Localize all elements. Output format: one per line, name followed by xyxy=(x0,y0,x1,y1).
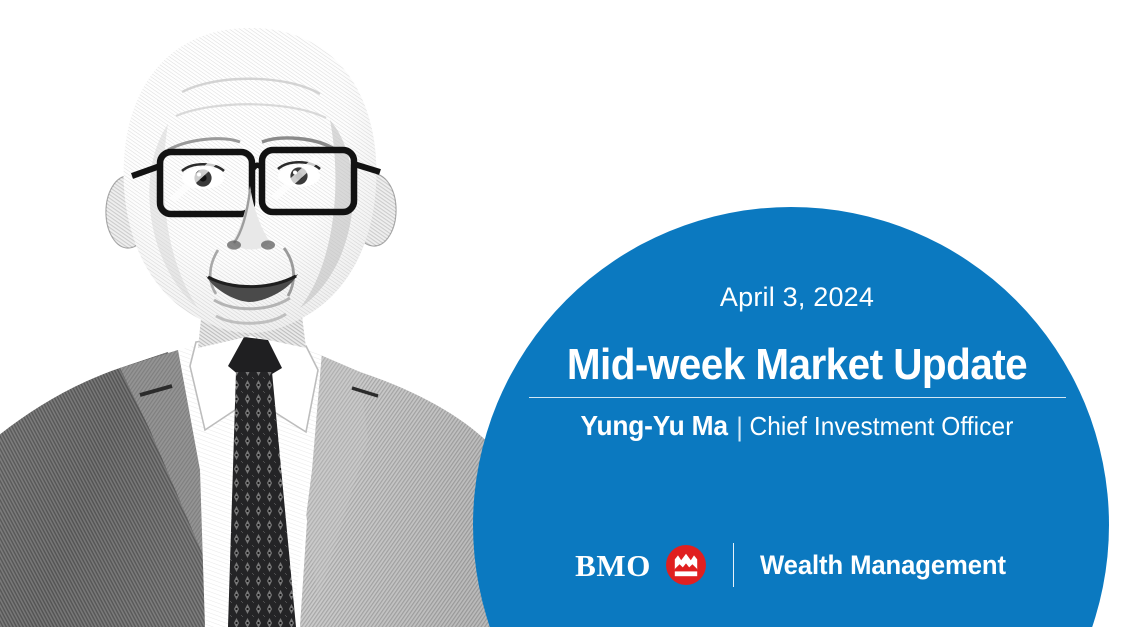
byline-role: Chief Investment Officer xyxy=(749,411,1013,441)
roundel-base-bar xyxy=(675,571,697,576)
nostril-right xyxy=(261,240,275,249)
portrait-illustration xyxy=(0,0,500,627)
page-title: Mid-week Market Update xyxy=(534,343,1060,388)
bmo-m-bar-roundel-icon xyxy=(666,545,706,585)
title-block: Mid-week Market Update Yung-Yu Ma|Chief … xyxy=(487,343,1107,442)
title-divider xyxy=(529,397,1066,398)
byline: Yung-Yu Ma|Chief Investment Officer xyxy=(528,411,1066,442)
bmo-wealth-management-logo[interactable]: BMO Wealth Management xyxy=(487,543,1107,587)
portrait-image xyxy=(0,0,500,627)
byline-name: Yung-Yu Ma xyxy=(581,410,728,441)
bmo-wordmark: BMO xyxy=(575,550,651,581)
nostril-left xyxy=(227,240,241,249)
logo-divider xyxy=(733,543,734,587)
market-update-banner: April 3, 2024 Mid-week Market Update Yun… xyxy=(0,0,1132,627)
wealth-management-label: Wealth Management xyxy=(760,552,1006,579)
publication-date: April 3, 2024 xyxy=(487,284,1107,311)
byline-separator: | xyxy=(736,413,743,443)
